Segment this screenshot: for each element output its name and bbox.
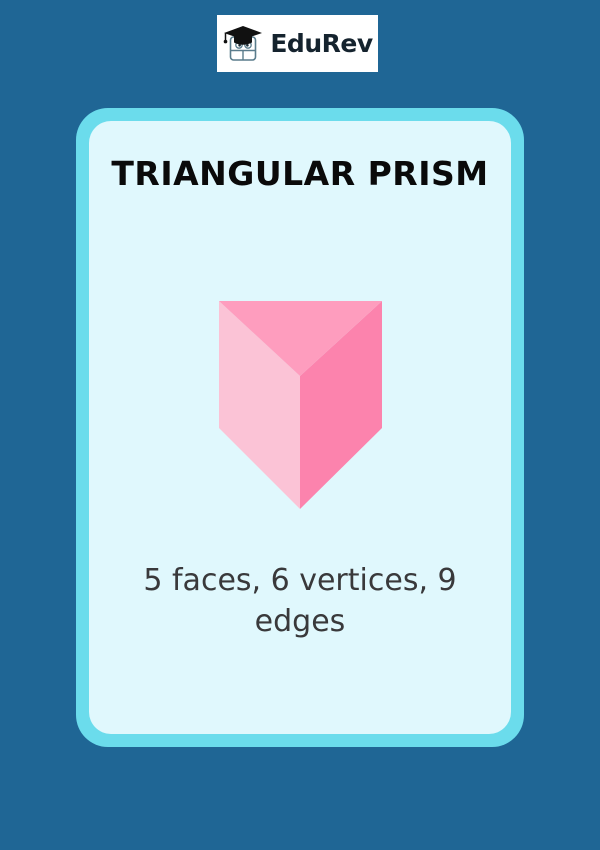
shape-illustration <box>89 301 511 541</box>
logo-text: EduRev <box>270 31 372 56</box>
graduation-cap-book-icon <box>222 24 264 64</box>
page-title: TRIANGULAR PRISM <box>111 156 488 192</box>
triangular-prism-icon <box>219 301 382 509</box>
shape-facts: 5 faces, 6 vertices, 9 edges <box>89 561 511 642</box>
flashcard: TRIANGULAR PRISM 5 faces, 6 vertices, 9 … <box>76 108 524 747</box>
edurev-logo[interactable]: EduRev <box>217 15 378 72</box>
flashcard-body: TRIANGULAR PRISM 5 faces, 6 vertices, 9 … <box>89 121 511 734</box>
